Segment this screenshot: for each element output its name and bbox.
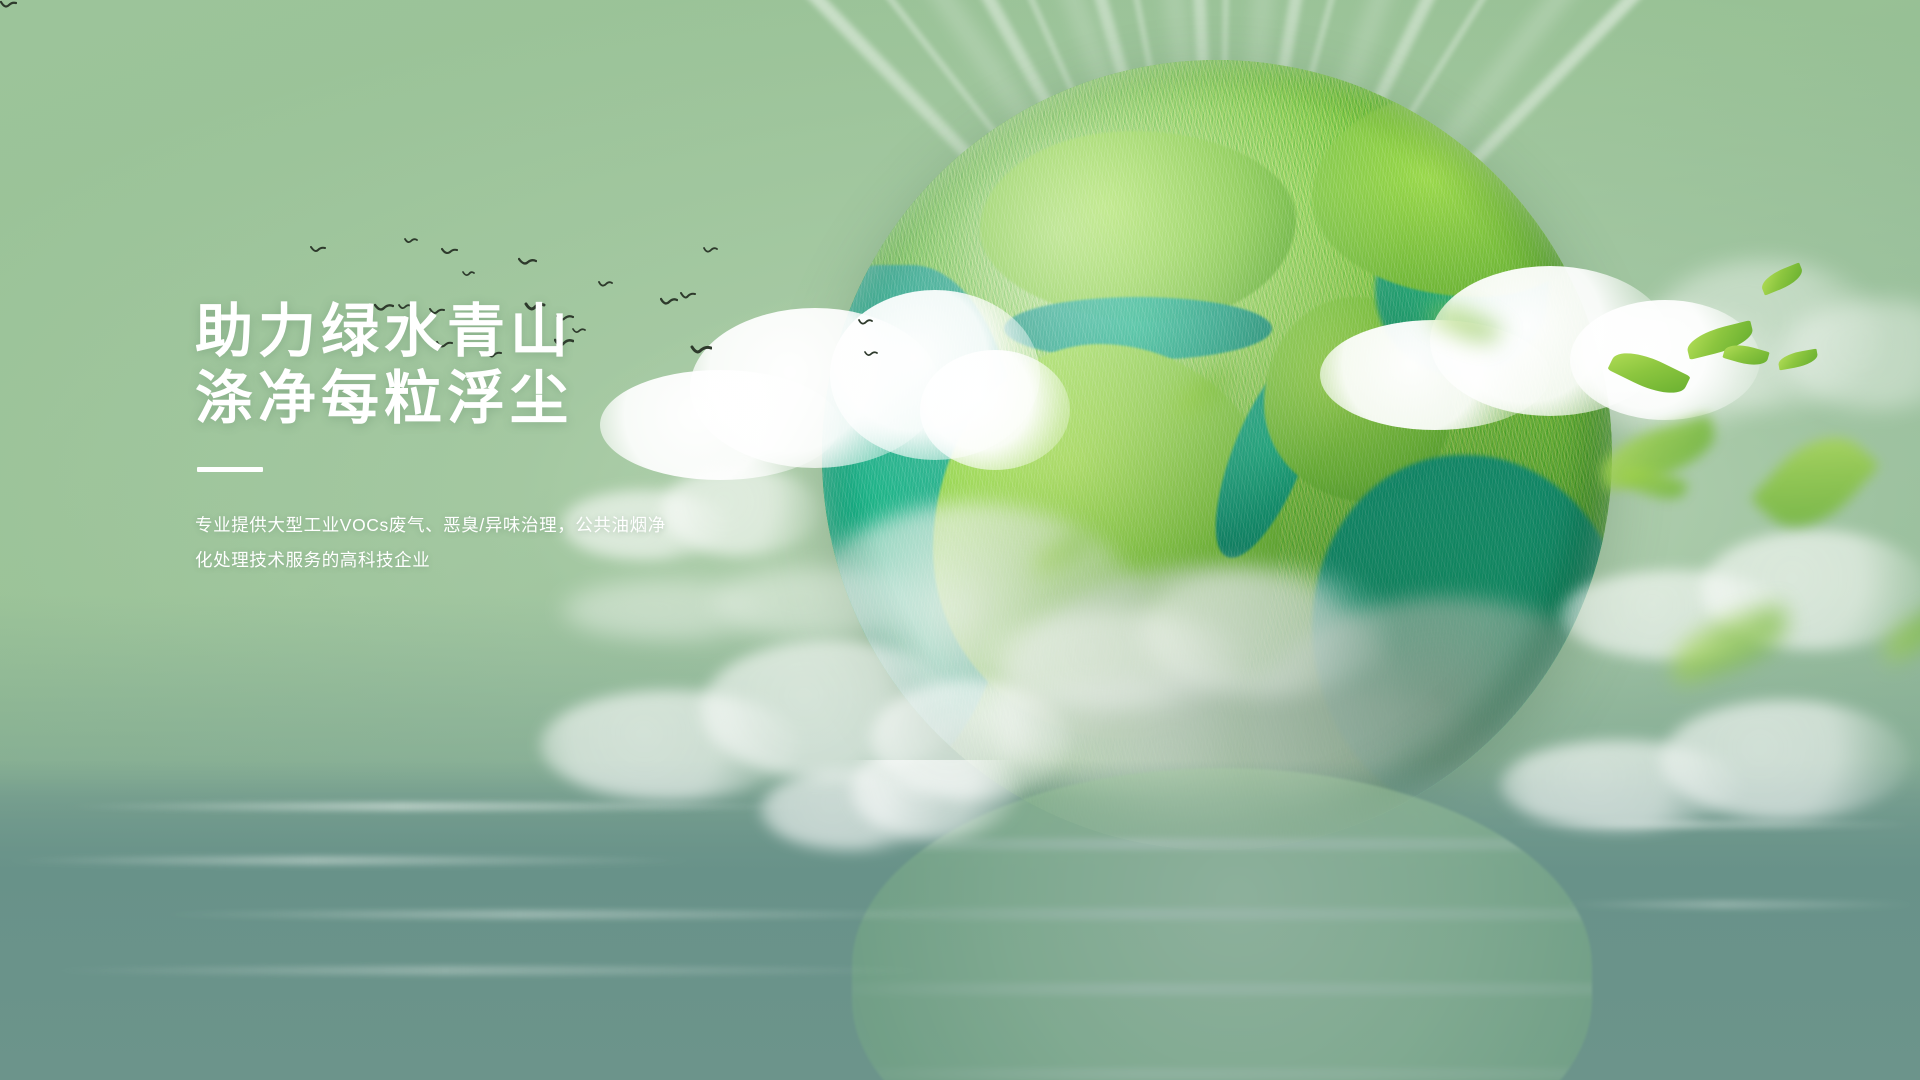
- headline-line-1: 助力绿水青山: [195, 298, 835, 365]
- bird-icon: [404, 237, 418, 247]
- leaf-icon: [1877, 606, 1920, 664]
- bird-icon: [462, 270, 475, 280]
- grass-globe: [822, 60, 1612, 850]
- bird-icon: [703, 246, 718, 257]
- hero-description: 专业提供大型工业VOCs废气、恶臭/异味治理，公共油烟净 化处理技术服务的高科技…: [195, 508, 735, 580]
- bird-icon: [518, 257, 537, 270]
- leaf-icon: [1664, 602, 1797, 686]
- leaf-icon: [1777, 349, 1819, 371]
- hero-banner: 助力绿水青山 涤净每粒浮尘 专业提供大型工业VOCs废气、恶臭/异味治理，公共油…: [0, 0, 1920, 1080]
- globe-rim-light: [822, 60, 1612, 850]
- leaf-icon: [1607, 342, 1690, 403]
- bird-icon: [310, 245, 326, 257]
- bird-icon: [0, 0, 17, 12]
- bird-icon: [858, 318, 873, 329]
- bird-icon: [598, 280, 613, 291]
- title-divider: [197, 467, 263, 472]
- globe-reflection: [852, 768, 1592, 1080]
- description-line-1: 专业提供大型工业VOCs废气、恶臭/异味治理，公共油烟净: [195, 508, 735, 544]
- headline-line-2: 涤净每粒浮尘: [195, 365, 835, 432]
- hero-copy: 助力绿水青山 涤净每粒浮尘 专业提供大型工业VOCs废气、恶臭/异味治理，公共油…: [195, 298, 835, 579]
- bird-icon: [441, 247, 458, 259]
- description-line-2: 化处理技术服务的高科技企业: [195, 543, 735, 579]
- leaf-icon: [1750, 416, 1880, 549]
- bird-icon: [864, 350, 878, 360]
- water-surface: [0, 760, 1920, 1080]
- leaf-icon: [1758, 262, 1806, 295]
